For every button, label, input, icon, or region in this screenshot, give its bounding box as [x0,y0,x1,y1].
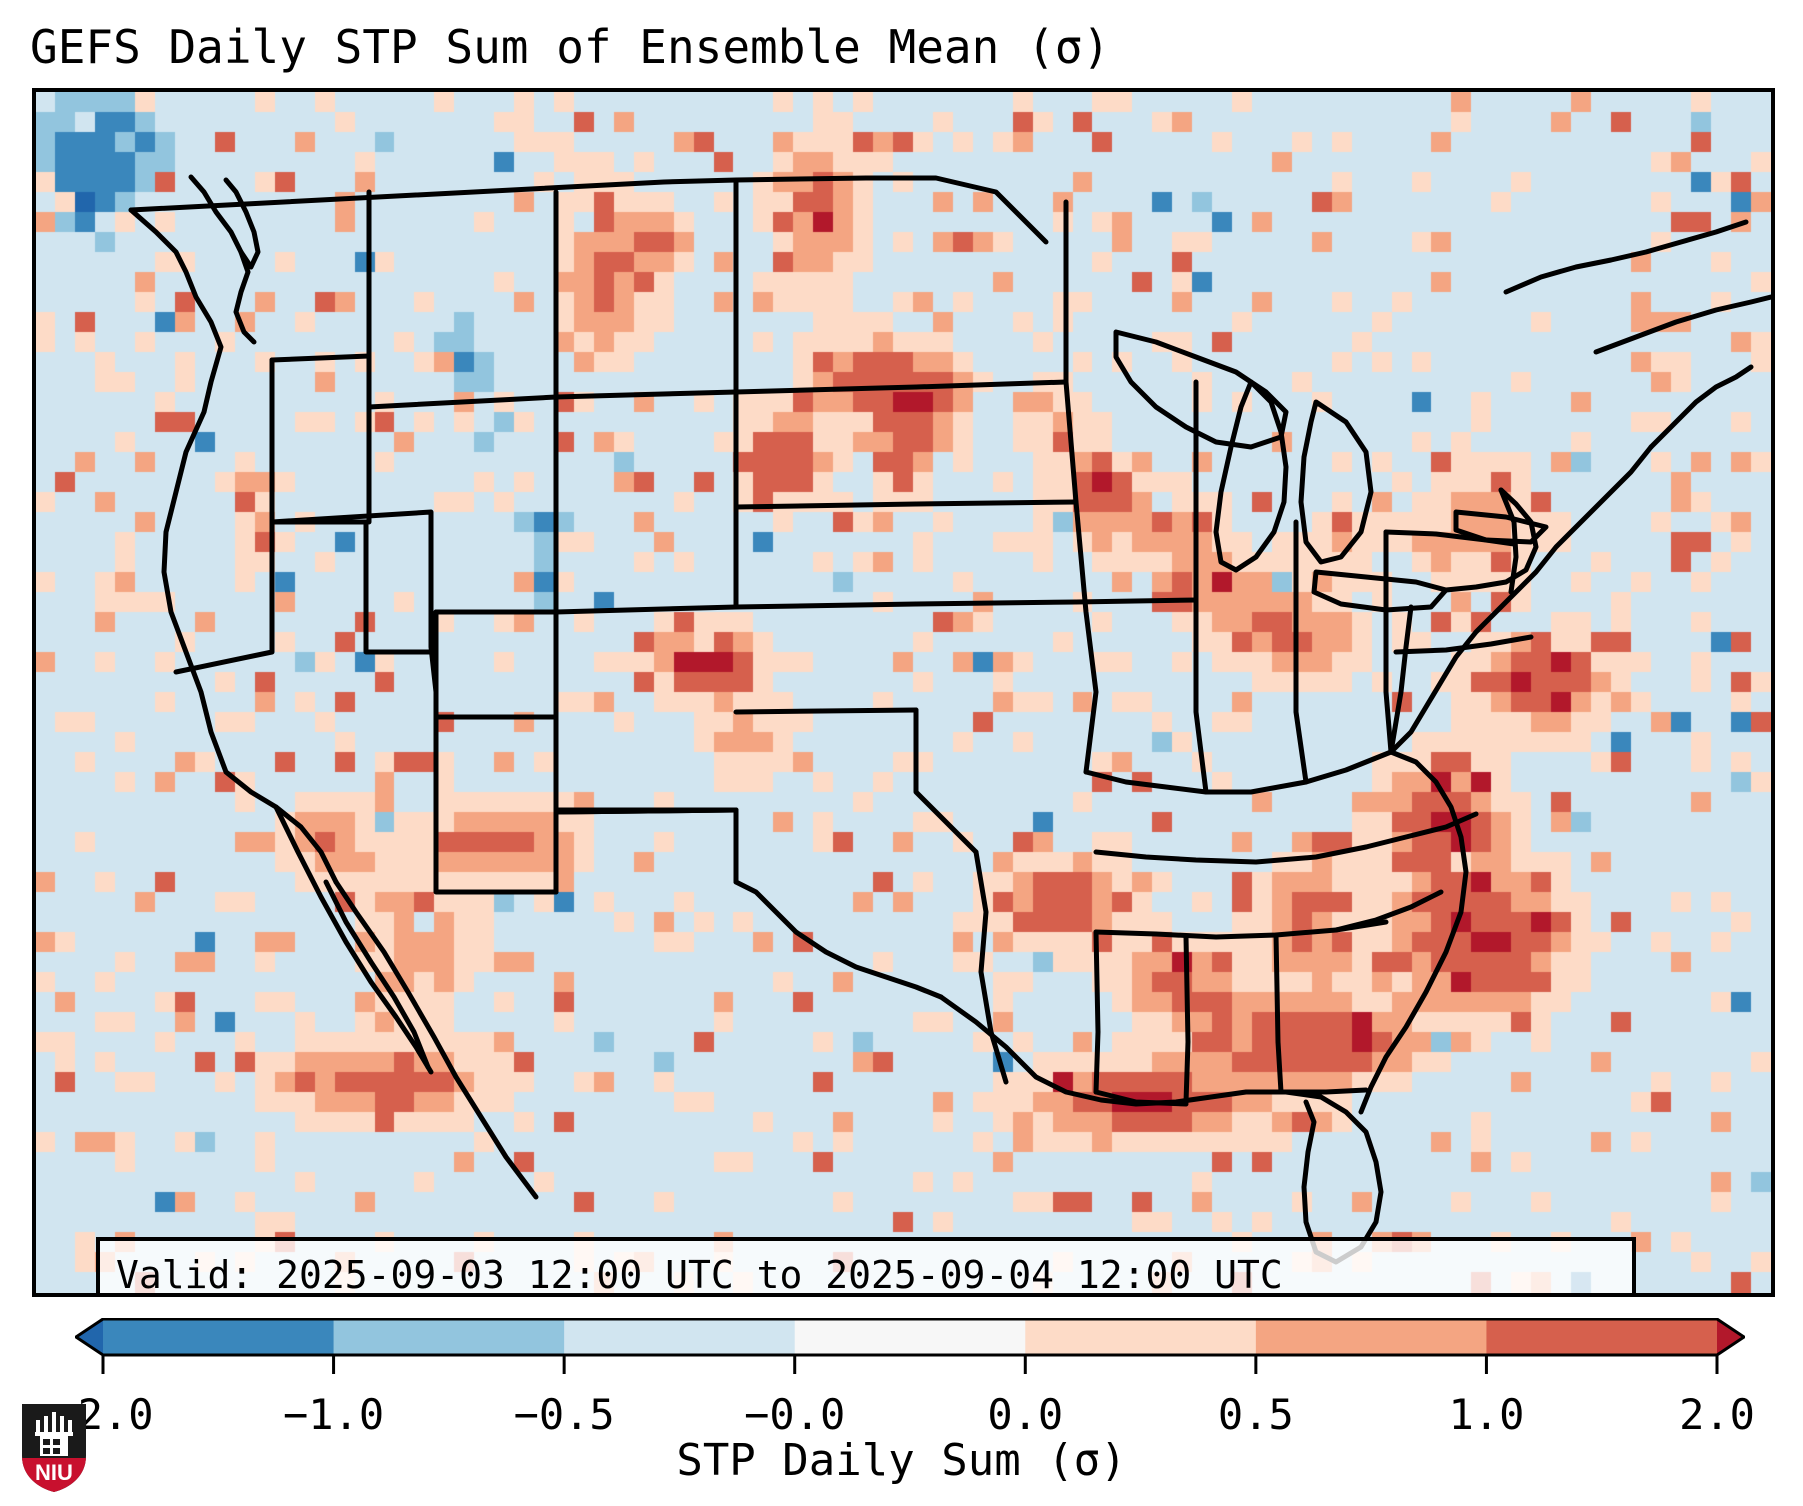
valid-time-line: Valid: 2025-09-03 12:00 UTC to 2025-09-0… [116,1249,1616,1297]
colorbar-gradient [75,1318,1745,1378]
map-axes[interactable]: Valid: 2025-09-03 12:00 UTC to 2025-09-0… [32,88,1775,1297]
colorbar[interactable] [75,1318,1745,1356]
valid-run-info-box: Valid: 2025-09-03 12:00 UTC to 2025-09-0… [96,1237,1636,1297]
niu-logo: NIU [18,1398,90,1494]
stp-heatmap-field [36,92,1771,1293]
colorbar-axis-label: STP Daily Sum (σ) [0,1432,1803,1490]
page-title: GEFS Daily STP Sum of Ensemble Mean (σ) [30,16,1730,78]
figure-canvas: GEFS Daily STP Sum of Ensemble Mean (σ) [0,0,1803,1506]
niu-logo-text: NIU [35,1460,73,1485]
